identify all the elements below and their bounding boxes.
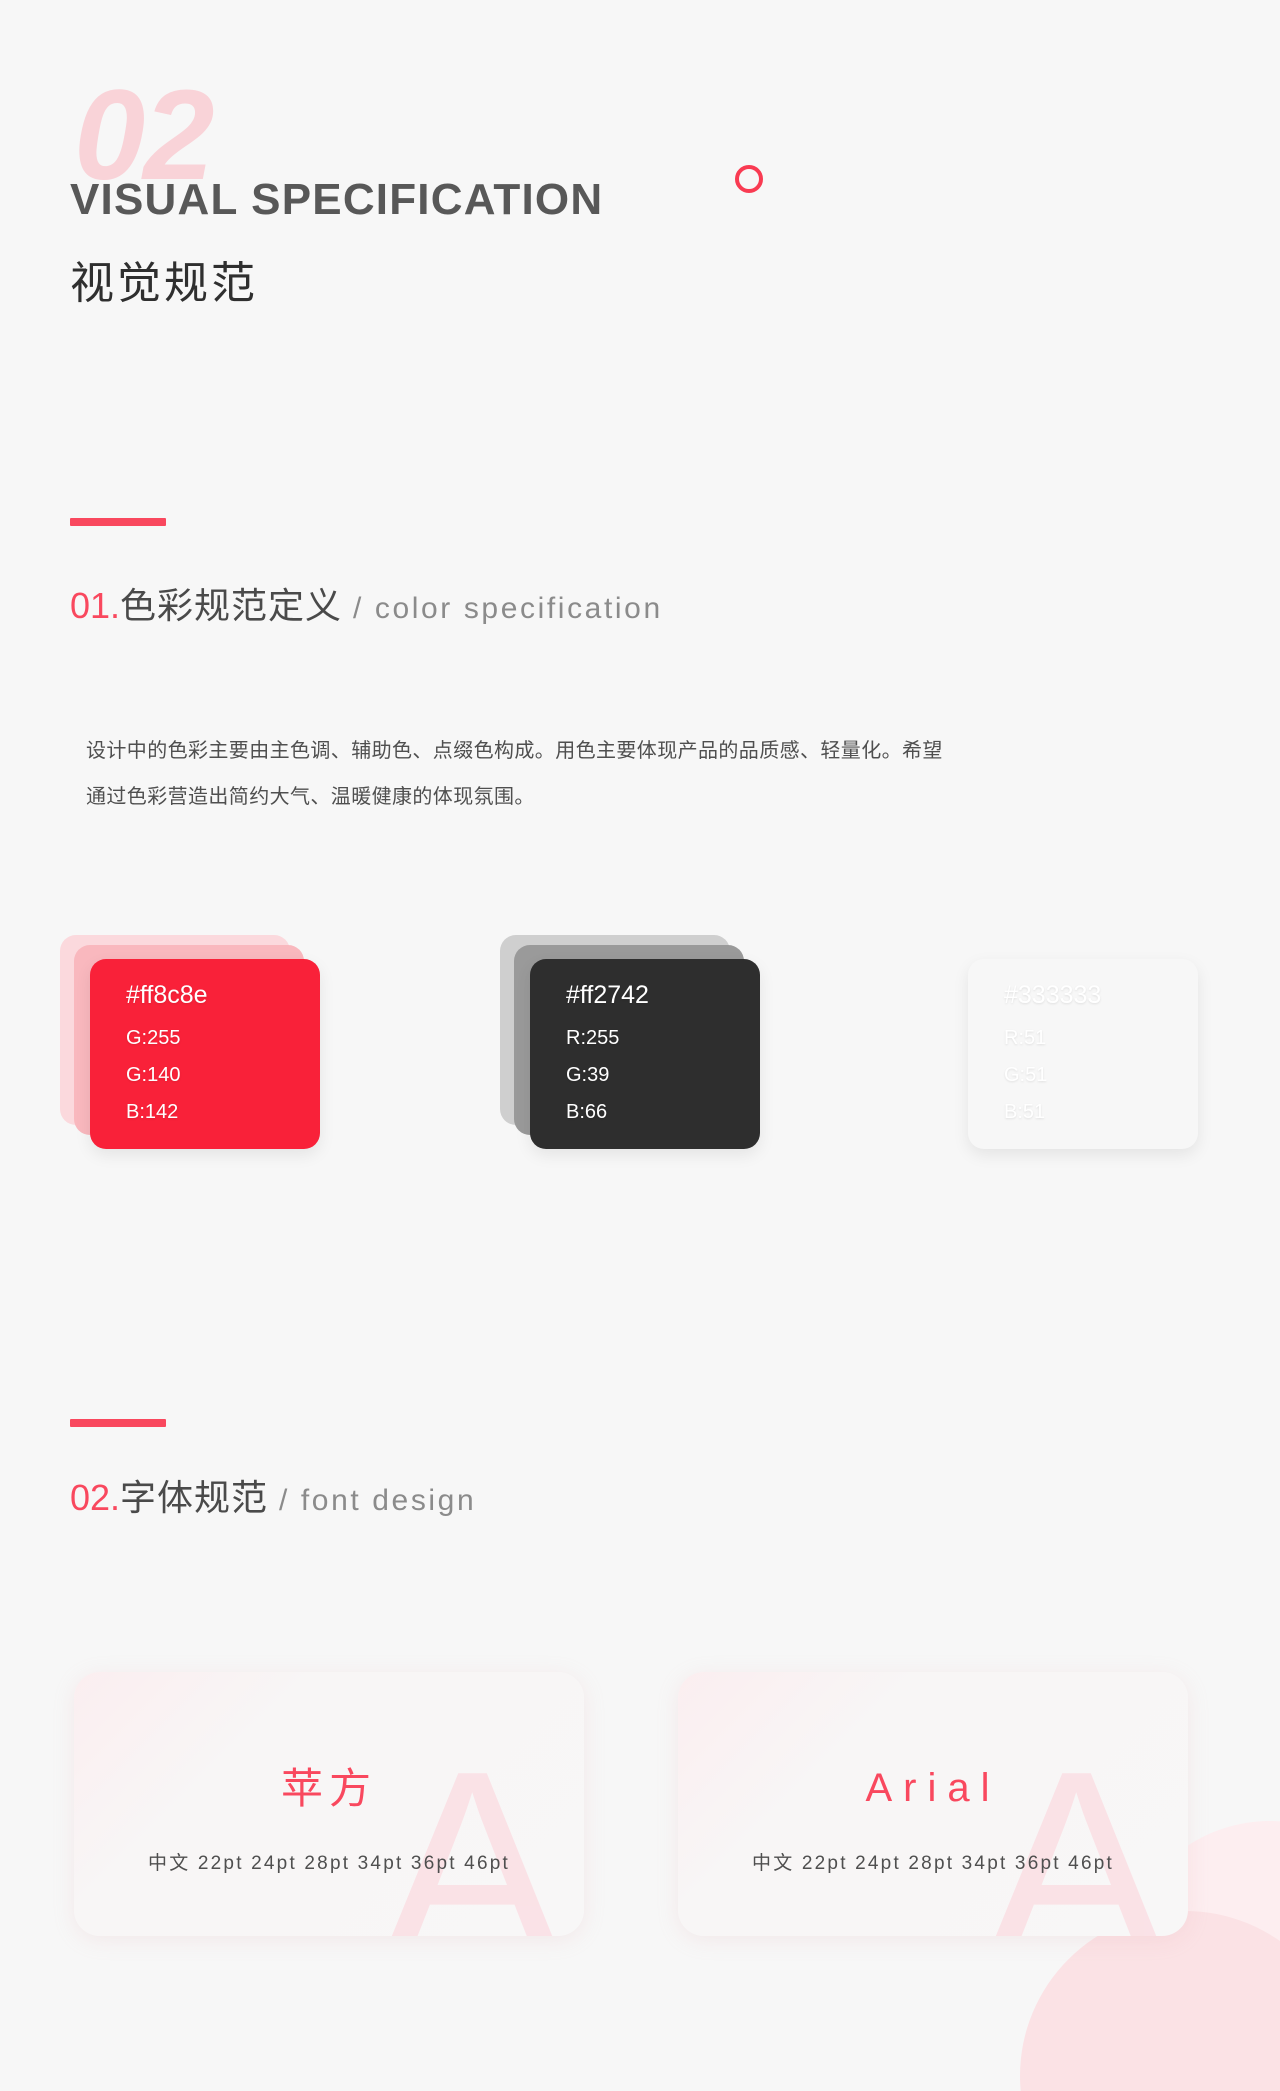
swatch-channel-r: G:255	[126, 1028, 320, 1048]
section-02-accent-bar	[70, 1419, 166, 1427]
swatch-labels: #ff8c8e G:255 G:140 B:142	[90, 959, 320, 1149]
color-swatch-neutral[interactable]: #333333 R:51 G:51 B:51	[938, 935, 1238, 1195]
swatch-channel-b: B:51	[1004, 1102, 1198, 1122]
section-02-separator: /	[268, 1484, 301, 1517]
color-specification-paragraph: 设计中的色彩主要由主色调、辅助色、点缀色构成。用色主要体现产品的品质感、轻量化。…	[86, 728, 1206, 820]
swatch-hex-value: #ff2742	[566, 983, 760, 1008]
visual-specification-page: 02 VISUAL SPECIFICATION 视觉规范 01.色彩规范定义 /…	[0, 0, 1280, 2091]
page-header: 02 VISUAL SPECIFICATION 视觉规范	[0, 0, 1280, 420]
font-card-size-list: 中文 22pt 24pt 28pt 34pt 36pt 46pt	[74, 1854, 584, 1873]
font-card-row: A 苹方 中文 22pt 24pt 28pt 34pt 36pt 46pt A …	[74, 1672, 1214, 1942]
paragraph-line: 设计中的色彩主要由主色调、辅助色、点缀色构成。用色主要体现产品的品质感、轻量化。…	[86, 728, 1206, 774]
color-swatch-accent[interactable]: #ff2742 R:255 G:39 B:66	[500, 935, 800, 1195]
section-02-heading: 02.字体规范 / font design	[70, 1480, 476, 1516]
section-02-title-chinese: 字体规范	[120, 1477, 268, 1518]
letter-a-watermark-icon: A	[382, 1732, 562, 1936]
swatch-channel-g: G:140	[126, 1065, 320, 1085]
swatch-labels: #333333 R:51 G:51 B:51	[968, 959, 1198, 1149]
swatch-channel-b: B:66	[566, 1102, 760, 1122]
swatch-channel-g: G:51	[1004, 1065, 1198, 1085]
section-01-title-chinese: 色彩规范定义	[120, 585, 342, 626]
section-01-heading: 01.色彩规范定义 / color specification	[70, 588, 663, 624]
section-01-number: 01.	[70, 585, 120, 626]
color-swatch-primary[interactable]: #ff8c8e G:255 G:140 B:142	[60, 935, 360, 1195]
swatch-labels: #ff2742 R:255 G:39 B:66	[530, 959, 760, 1149]
section-01-accent-bar	[70, 518, 166, 526]
swatch-hex-value: #ff8c8e	[126, 983, 320, 1008]
swatch-channel-g: G:39	[566, 1065, 760, 1085]
font-card-arial[interactable]: A Arial 中文 22pt 24pt 28pt 34pt 36pt 46pt	[678, 1672, 1188, 1936]
page-title-chinese: 视觉规范	[70, 262, 258, 306]
letter-a-watermark-icon: A	[986, 1732, 1166, 1936]
section-02-title-english: font design	[301, 1484, 476, 1517]
section-01-separator: /	[342, 592, 375, 625]
swatch-hex-value: #333333	[1004, 983, 1198, 1008]
circle-outline-icon	[735, 165, 763, 193]
swatch-channel-r: R:51	[1004, 1028, 1198, 1048]
font-card-pingfang[interactable]: A 苹方 中文 22pt 24pt 28pt 34pt 36pt 46pt	[74, 1672, 584, 1936]
font-card-size-list: 中文 22pt 24pt 28pt 34pt 36pt 46pt	[678, 1854, 1188, 1873]
page-title-english: VISUAL SPECIFICATION	[70, 178, 603, 222]
section-02-number: 02.	[70, 1477, 120, 1518]
paragraph-line: 通过色彩营造出简约大气、温暖健康的体现氛围。	[86, 774, 1206, 820]
swatch-channel-r: R:255	[566, 1028, 760, 1048]
font-card-name: 苹方	[74, 1768, 584, 1810]
swatch-channel-b: B:142	[126, 1102, 320, 1122]
section-01-title-english: color specification	[375, 592, 663, 625]
font-card-name: Arial	[678, 1768, 1188, 1808]
color-swatch-row: #ff8c8e G:255 G:140 B:142 #ff2742 R:255 …	[60, 935, 1240, 1195]
